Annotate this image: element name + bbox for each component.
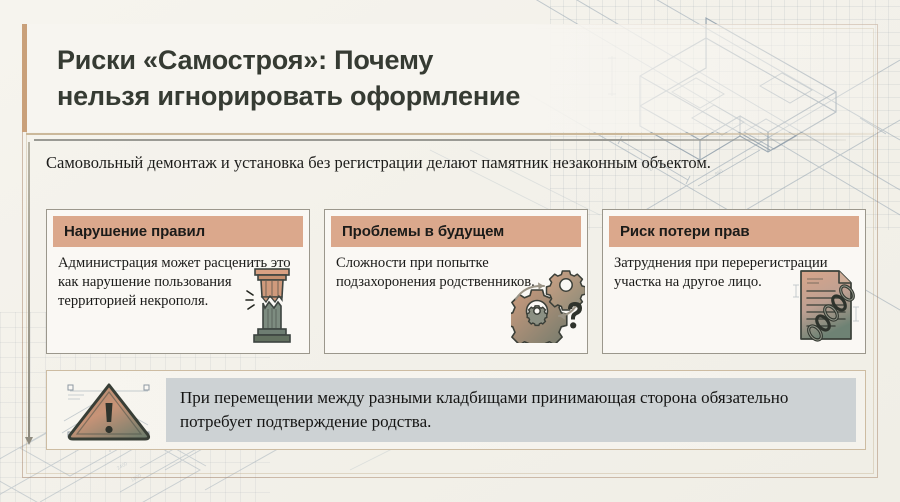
- gears-question-icon: [511, 263, 585, 343]
- risk-card-rights-loss: Риск потери прав Затруднения при перерег…: [602, 209, 866, 354]
- risk-card-violation: Нарушение правил Администрация может рас…: [46, 209, 310, 354]
- header-divider-lower: [34, 139, 846, 141]
- slide-title: Риски «Самостроя»: Почему нельзя игнорир…: [57, 42, 520, 114]
- card-header-band-2: Проблемы в будущем: [331, 216, 581, 247]
- callout-text: При перемещении между разными кладбищами…: [180, 386, 842, 434]
- callout-text-panel: При перемещении между разными кладбищами…: [166, 378, 856, 442]
- card-header-band-1: Нарушение правил: [53, 216, 303, 247]
- card-header-band-3: Риск потери прав: [609, 216, 859, 247]
- card-heading-2: Проблемы в будущем: [342, 223, 504, 240]
- card-body-2: Сложности при попытке подзахоронения род…: [325, 247, 587, 353]
- slide-body: Самовольный демонтаж и установка без рег…: [34, 143, 874, 473]
- svg-text:1800: 1800: [130, 473, 143, 484]
- left-vertical-accent-arrow: [28, 142, 30, 438]
- document-chain-icon: [791, 263, 861, 347]
- risk-card-future-problems: Проблемы в будущем Сложности при попытке…: [324, 209, 588, 354]
- card-heading-3: Риск потери прав: [620, 223, 750, 240]
- risk-card-row: Нарушение правил Администрация может рас…: [46, 209, 866, 354]
- card-body-3: Затруднения при перерегистрации участка …: [603, 247, 865, 353]
- lede-paragraph: Самовольный демонтаж и установка без рег…: [46, 151, 786, 175]
- card-heading-1: Нарушение правил: [64, 223, 205, 240]
- slide-header: Риски «Самостроя»: Почему нельзя игнорир…: [22, 24, 878, 132]
- broken-column-icon: [241, 261, 303, 347]
- warning-callout: При перемещении между разными кладбищами…: [46, 370, 866, 450]
- card-body-1: Администрация может расценить это как на…: [47, 247, 309, 353]
- warning-triangle-icon: [56, 377, 162, 443]
- header-divider-upper: [26, 133, 874, 135]
